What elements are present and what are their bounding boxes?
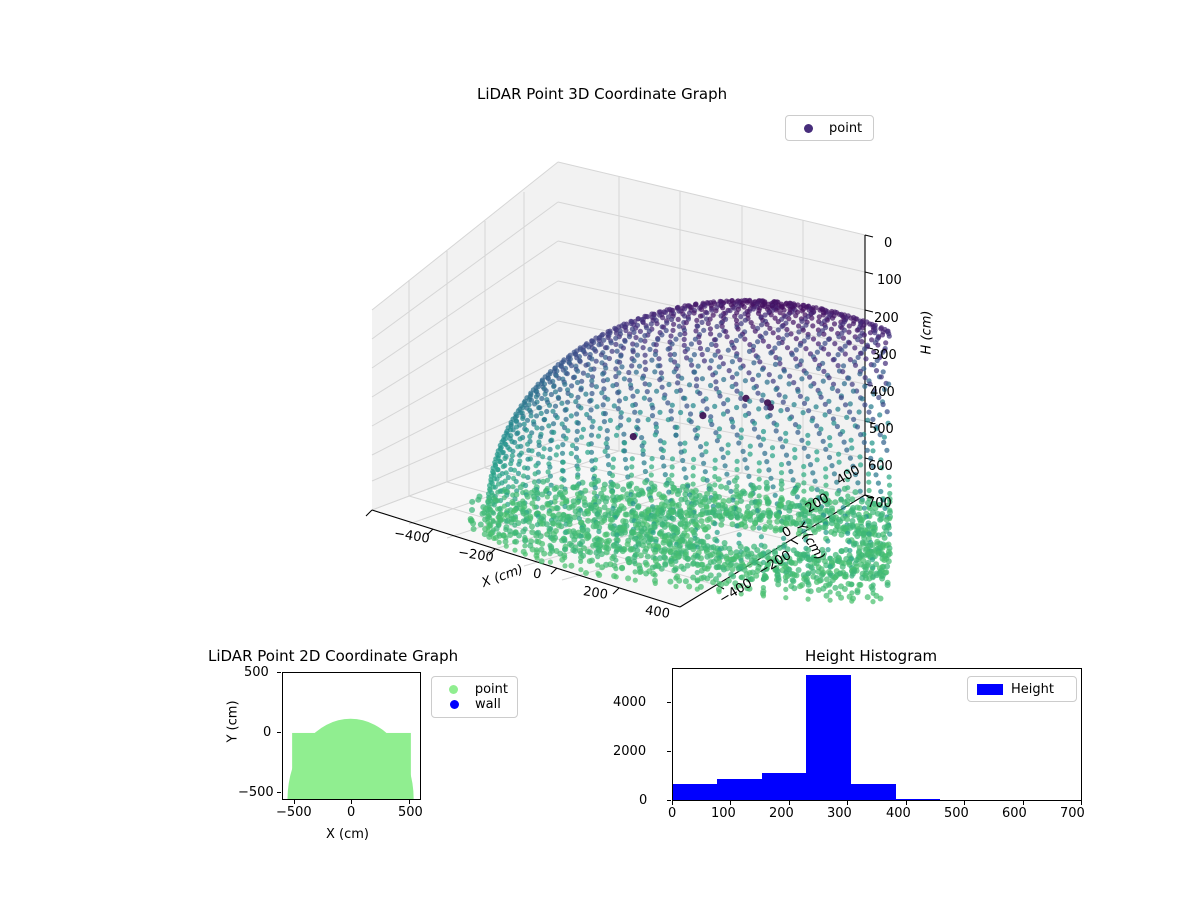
axes-3d-frame (330, 140, 930, 630)
x-tickmark (847, 801, 848, 805)
z-tick-label: 500 (869, 422, 894, 437)
y-axis-label: Y (cm) (226, 700, 241, 742)
z-tick-label: 700 (867, 496, 892, 511)
y-tickmark (667, 702, 671, 703)
x-tickmark (730, 801, 731, 805)
x-tick-label: 300 (827, 806, 852, 821)
x-tickmark (1023, 801, 1024, 805)
x-tickmark (906, 801, 907, 805)
x-tick-label: 100 (711, 806, 736, 821)
legend-3d[interactable]: point (785, 115, 874, 141)
y-tick-label: 4000 (613, 695, 646, 710)
y-tickmark (277, 672, 281, 673)
z-tick-label: 0 (884, 236, 892, 251)
panel-hist-title: Height Histogram (805, 647, 937, 665)
wall-marker-icon (441, 700, 467, 709)
z-tick-label: 200 (874, 311, 899, 326)
x-tick-label: 500 (944, 806, 969, 821)
x-tick-label: 0 (347, 805, 355, 820)
histogram-bar (762, 773, 806, 800)
point-marker-icon (441, 685, 467, 694)
histogram-bar (851, 784, 896, 800)
x-tickmark (1081, 801, 1082, 805)
legend-histogram[interactable]: Height (967, 676, 1077, 702)
lidar-2d-point-cloud (283, 673, 420, 799)
x-tickmark (409, 800, 410, 804)
panel-3d-title: LiDAR Point 3D Coordinate Graph (477, 85, 727, 103)
x-tick-label: 700 (1060, 806, 1085, 821)
legend-item-point[interactable]: point (795, 121, 864, 136)
histogram-bar (896, 799, 940, 800)
y-tick-label: 0 (639, 793, 647, 808)
y-tickmark (277, 792, 281, 793)
x-tick-label: 500 (398, 805, 423, 820)
legend-label: point (829, 121, 862, 136)
legend-label: Height (1011, 682, 1054, 697)
y-tick-label: −500 (238, 785, 274, 800)
x-tick-label: −500 (276, 805, 312, 820)
y-tickmark (667, 800, 671, 801)
x-axis-label: X (cm) (326, 827, 369, 842)
x-tickmark (964, 801, 965, 805)
axes-3d[interactable] (330, 140, 930, 630)
y-tick-label: 500 (244, 665, 269, 680)
x-tick-label: 0 (668, 806, 676, 821)
x-tickmark (294, 800, 295, 804)
z-tick-label: 400 (870, 385, 895, 400)
point-marker-icon (795, 124, 821, 133)
histogram-bar (717, 779, 762, 800)
height-patch-icon (977, 684, 1003, 695)
legend-item-wall[interactable]: wall (441, 697, 508, 712)
panel-2d-title: LiDAR Point 2D Coordinate Graph (208, 647, 458, 665)
x-tick-label: 400 (886, 806, 911, 821)
y-tickmark (277, 732, 281, 733)
x-tick-label: 600 (1002, 806, 1027, 821)
z-tick-label: 600 (868, 459, 893, 474)
x-tick-label: 200 (769, 806, 794, 821)
histogram-bar (673, 784, 717, 800)
legend-label: point (475, 682, 508, 697)
x-tickmark (351, 800, 352, 804)
y-tick-label: 0 (263, 725, 271, 740)
y-tick-label: 2000 (613, 744, 646, 759)
legend-item-point[interactable]: point (441, 682, 508, 697)
z-tick-label: 300 (872, 348, 897, 363)
legend-item-height[interactable]: Height (977, 682, 1067, 697)
z-tick-label: 100 (877, 273, 902, 288)
matplotlib-figure: LiDAR Point 3D Coordinate Graph point (0, 0, 1200, 900)
axes-2d[interactable] (282, 672, 421, 800)
legend-2d[interactable]: point wall (431, 676, 518, 718)
legend-label: wall (475, 697, 501, 712)
z-axis-label: H (cm) (919, 311, 934, 355)
x-tickmark (789, 801, 790, 805)
x-tickmark (672, 801, 673, 805)
histogram-bar (806, 675, 850, 800)
y-tickmark (667, 751, 671, 752)
